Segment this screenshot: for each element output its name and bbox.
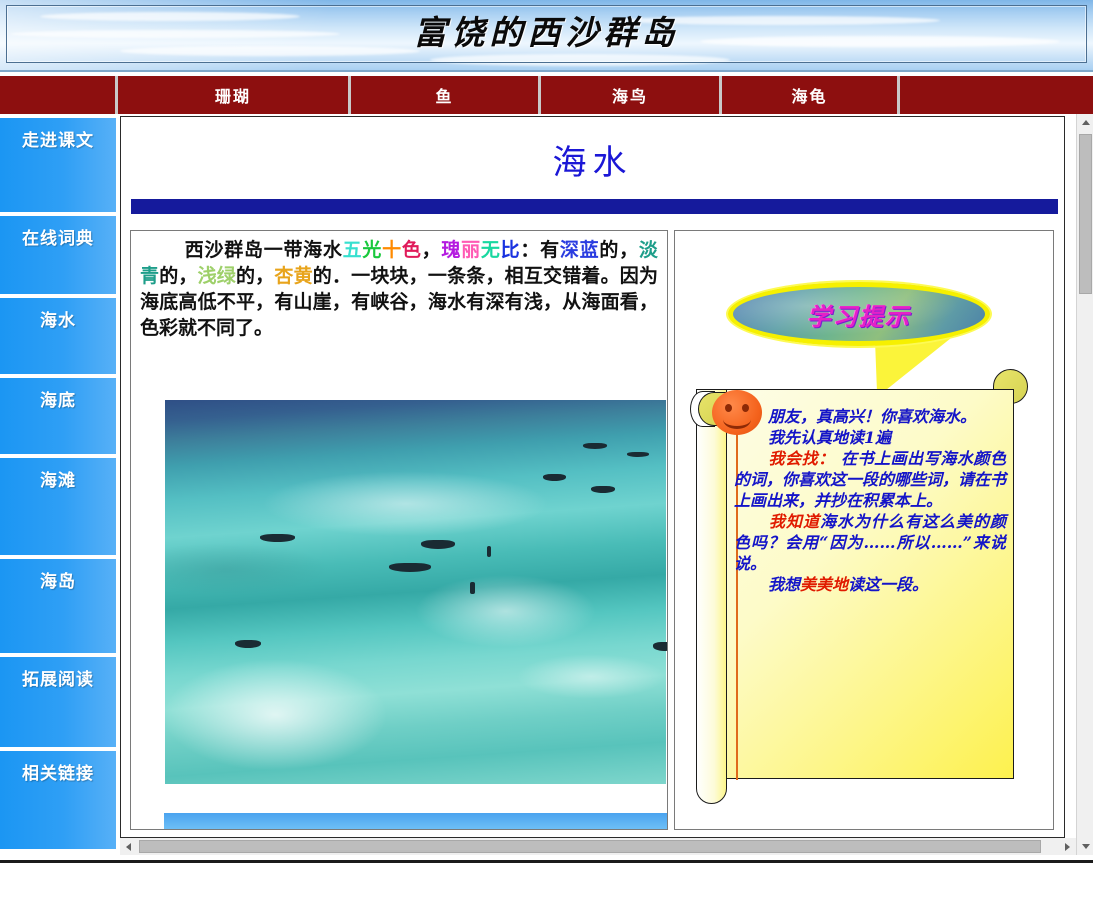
scroll-roll-left <box>696 389 727 804</box>
lesson-comma: ， <box>422 239 442 261</box>
page-title: 富饶的西沙群岛 <box>0 0 1093 68</box>
hint-seg: 读这一段。 <box>848 575 928 594</box>
hint-line-5: 我想美美地读这一段。 <box>734 574 1006 595</box>
word-guang: 光 <box>362 239 382 261</box>
sidebar-item-enter-text[interactable]: 走进课文 <box>0 116 116 214</box>
word-bi: 比 <box>501 239 521 261</box>
sidebar-item-label: 相关链接 <box>0 751 116 784</box>
word-li: 丽 <box>461 239 481 261</box>
scroll-up-button[interactable] <box>1077 114 1093 131</box>
lesson-panel: 西沙群岛一带海水五光十色，瑰丽无比：有深蓝的，淡青的，浅绿的，杏黄的．一块块，一… <box>130 230 668 830</box>
nav-seaturtle[interactable]: 海龟 <box>722 76 900 114</box>
sidebar-item-label: 海岛 <box>0 559 116 592</box>
lesson-colon: ： <box>520 239 540 261</box>
hint-seg-emphasis: 我会找： <box>768 449 835 468</box>
study-hint-panel: 学习提示 朋友，真高兴！你喜欢海水。 我先认真地读1遍 我会找： 在书上画出写海 <box>674 230 1054 830</box>
sidebar-item-seabed[interactable]: 海底 <box>0 376 116 456</box>
seawater-photo-secondary <box>164 813 667 830</box>
sidebar-item-related-links[interactable]: 相关链接 <box>0 749 116 851</box>
scroll-down-button[interactable] <box>1077 838 1093 855</box>
nav-fish[interactable]: 鱼 <box>351 76 541 114</box>
nav-coral[interactable]: 珊瑚 <box>118 76 351 114</box>
nav-seabird[interactable]: 海鸟 <box>541 76 722 114</box>
title-divider-bar <box>131 199 1058 214</box>
word-gui: 瑰 <box>441 239 461 261</box>
sidebar-item-label: 走进课文 <box>0 118 116 151</box>
hint-line-1: 朋友，真高兴！你喜欢海水。 <box>734 406 1006 427</box>
hint-line-2: 我先认真地读1遍 <box>734 427 1006 448</box>
sidebar-item-label: 海水 <box>0 298 116 331</box>
sidebar-item-label: 拓展阅读 <box>0 657 116 690</box>
sidebar-item-beach[interactable]: 海滩 <box>0 456 116 557</box>
hint-line-3: 我会找： 在书上画出写海水颜色的词，你喜欢这一段的哪些词，请在书上画出来，并抄在… <box>734 448 1006 511</box>
word-shenlan: 深蓝 <box>560 239 599 261</box>
word-qianlv: 浅绿 <box>198 265 236 287</box>
vertical-scroll-thumb[interactable] <box>1079 134 1092 294</box>
scroll-left-button[interactable] <box>120 838 137 855</box>
sidebar-item-online-dictionary[interactable]: 在线词典 <box>0 214 116 296</box>
word-se: 色 <box>402 239 422 261</box>
hint-seg-emphasis: 美美地 <box>800 575 848 594</box>
word-wu: 五 <box>343 239 363 261</box>
left-sidebar: 走进课文 在线词典 海水 海底 海滩 海岛 拓展阅读 相关链接 <box>0 116 118 855</box>
study-hint-bubble[interactable]: 学习提示 <box>728 282 990 346</box>
sidebar-item-island[interactable]: 海岛 <box>0 557 116 655</box>
seawater-photo <box>164 399 667 785</box>
lesson-paragraph: 西沙群岛一带海水五光十色，瑰丽无比：有深蓝的，淡青的，浅绿的，杏黄的．一块块，一… <box>140 237 658 341</box>
hint-seg-emphasis: 我知道 <box>768 512 820 531</box>
section-title: 海水 <box>121 135 1064 184</box>
arrow-left-icon <box>126 843 131 851</box>
arrow-right-icon <box>1065 843 1070 851</box>
lesson-text-seg3: 的， <box>599 239 638 261</box>
hint-seg: 朋友，真高兴！你喜欢海水。 <box>768 407 976 426</box>
lesson-text-seg4: 的， <box>159 265 197 287</box>
study-hint-text: 朋友，真高兴！你喜欢海水。 我先认真地读1遍 我会找： 在书上画出写海水颜色的词… <box>734 406 1006 595</box>
horizontal-scrollbar[interactable] <box>120 838 1076 855</box>
sidebar-item-label: 海滩 <box>0 458 116 491</box>
arrow-down-icon <box>1082 844 1090 849</box>
horizontal-scroll-thumb[interactable] <box>139 840 1041 853</box>
lesson-text-seg2: 有 <box>540 239 560 261</box>
lesson-text-seg5: 的， <box>236 265 274 287</box>
arrow-up-icon <box>1082 120 1090 125</box>
paper-scroll: 朋友，真高兴！你喜欢海水。 我先认真地读1遍 我会找： 在书上画出写海水颜色的词… <box>682 364 1044 819</box>
study-hint-label: 学习提示 <box>807 297 911 332</box>
sidebar-item-extended-reading[interactable]: 拓展阅读 <box>0 655 116 749</box>
nav-blank-left[interactable] <box>0 76 118 114</box>
window-bottom-border <box>0 860 1093 863</box>
lesson-text-seg: 西沙群岛一带海水 <box>184 239 343 261</box>
word-xinghuang: 杏黄 <box>274 265 312 287</box>
word-shi: 十 <box>382 239 402 261</box>
nav-blank-right[interactable] <box>900 76 1093 114</box>
scroll-right-button[interactable] <box>1059 838 1076 855</box>
hint-line-4: 我知道海水为什么有这么美的颜色吗？会用“因为……所以……”来说说。 <box>734 511 1006 574</box>
sidebar-item-label: 在线词典 <box>0 216 116 249</box>
sidebar-item-seawater[interactable]: 海水 <box>0 296 116 376</box>
presentation-page: 富饶的西沙群岛 珊瑚 鱼 海鸟 海龟 走进课文 在线词典 海水 海底 海滩 海岛… <box>0 0 1093 909</box>
hint-seg: 我想 <box>768 575 800 594</box>
sidebar-item-label: 海底 <box>0 378 116 411</box>
vertical-scrollbar[interactable] <box>1076 114 1093 855</box>
title-banner: 富饶的西沙群岛 <box>0 0 1093 72</box>
content-area: 海水 西沙群岛一带海水五光十色，瑰丽无比：有深蓝的，淡青的，浅绿的，杏黄的．一块… <box>120 116 1065 838</box>
word-wu2: 无 <box>481 239 501 261</box>
hint-seg: 我先认真地读1遍 <box>768 428 891 447</box>
top-navigation[interactable]: 珊瑚 鱼 海鸟 海龟 <box>0 76 1093 114</box>
